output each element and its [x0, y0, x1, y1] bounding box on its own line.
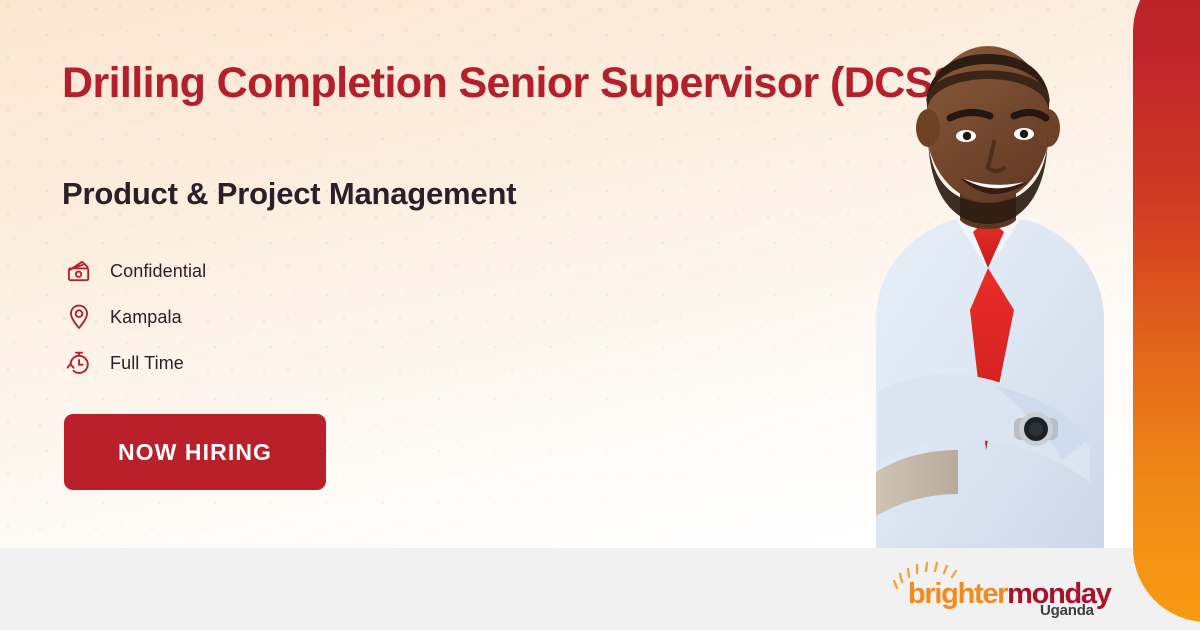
meta-label-job-type: Full Time — [110, 353, 184, 374]
meta-row-location: Kampala — [62, 294, 206, 340]
brightermonday-logo[interactable]: brightermonday Uganda — [880, 560, 1125, 618]
logo-brighter-text: brighter — [908, 578, 1007, 610]
meta-label-location: Kampala — [110, 307, 182, 328]
job-meta-list: Confidential Kampala Full — [62, 248, 206, 386]
side-gradient-pill — [1133, 0, 1200, 622]
meta-row-job-type: Full Time — [62, 340, 206, 386]
location-icon — [62, 300, 96, 334]
money-icon — [62, 254, 96, 288]
candidate-photo — [818, 20, 1148, 548]
meta-label-salary: Confidential — [110, 261, 206, 282]
stopwatch-icon — [62, 346, 96, 380]
now-hiring-button[interactable]: NOW HIRING — [64, 414, 326, 490]
logo-country-text: Uganda — [1040, 602, 1094, 619]
job-banner: Drilling Completion Senior Supervisor (D… — [0, 0, 1200, 630]
job-category: Product & Project Management — [62, 176, 516, 212]
meta-row-salary: Confidential — [62, 248, 206, 294]
